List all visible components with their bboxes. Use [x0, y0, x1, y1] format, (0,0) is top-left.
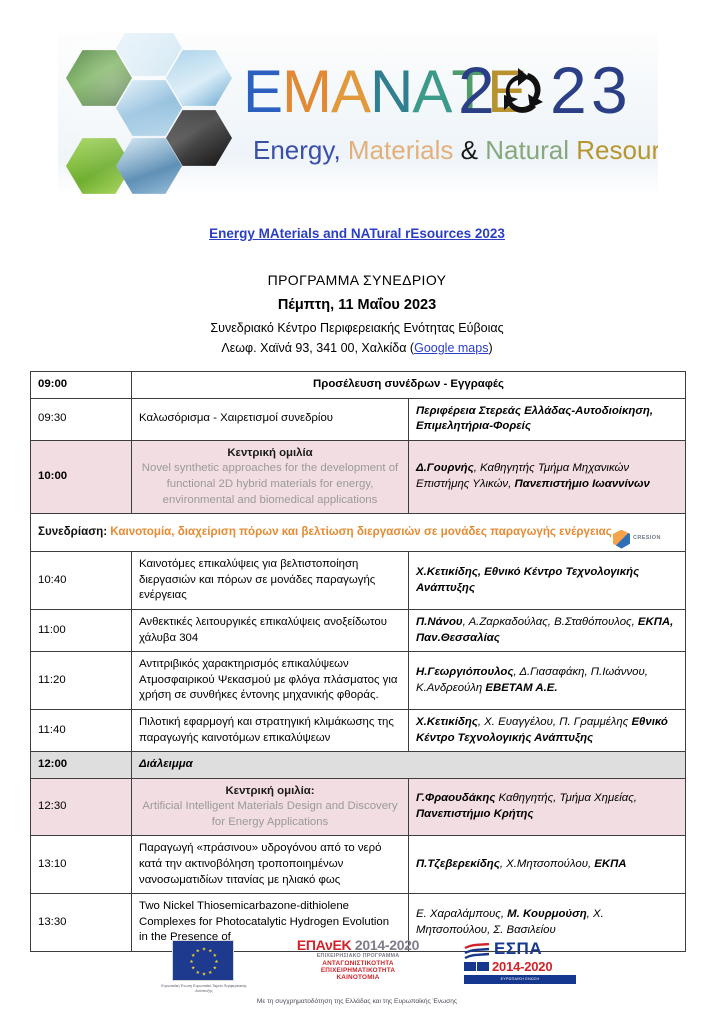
keynote-title: Novel synthetic approaches for the devel…: [139, 461, 401, 508]
wordmark-letter-5: A: [412, 57, 451, 127]
table-row: 11:00 Ανθεκτικές λειτουργικές επικαλύψει…: [31, 609, 686, 651]
row-topic: Καλωσόρισμα - Χαιρετισμοί συνεδρίου: [132, 398, 409, 440]
speaker-coauthors: Ε. Χαραλάμπους,: [416, 908, 507, 920]
row-time: 11:00: [31, 609, 132, 651]
subtitle-energy: Energy,: [253, 135, 341, 165]
speaker-primary: Γ.Φραουδάκης: [416, 792, 495, 804]
wordmark-letter-1: E: [243, 57, 282, 127]
subtitle-resources: Resources: [576, 135, 658, 165]
break-label: Διάλειμμα: [132, 752, 686, 779]
speaker-institution: ΕΒΕΤΑΜ Α.Ε.: [485, 682, 557, 694]
cresion-logo-text: CRESION: [633, 531, 661, 547]
table-row-break: 12:00 Διάλειμμα: [31, 752, 686, 779]
speaker-primary: Δ.Γουρνής: [416, 462, 474, 474]
eu-star-icon: [191, 953, 195, 957]
speaker-primary: Χ.Κετικίδης, Εθνικό Κέντρο Τεχνολογικής …: [416, 566, 639, 594]
speaker-coauthors: , Χ.Μητσοπούλου,: [500, 858, 594, 870]
venue-name: Συνεδριακό Κέντρο Περιφερειακής Ενότητας…: [0, 321, 714, 335]
speaker-institution: ΕΚΠΑ: [594, 858, 626, 870]
row-topic: Καινοτόμες επικαλύψεις για βελτιστοποίησ…: [132, 552, 409, 610]
conference-program-page: EMANATE 2 2 3 Energy, Materials & Natura…: [0, 0, 714, 1024]
row-time: 12:00: [31, 752, 132, 779]
row-topic: Κεντρική ομιλία Novel synthetic approach…: [132, 440, 409, 513]
keynote-label: Κεντρική ομιλία:: [139, 784, 401, 800]
speaker-primary: Περιφέρεια Στερεάς Ελλάδας-Αυτοδιοίκηση,…: [416, 405, 653, 433]
epanek-title: ΕΠΑνΕΚ: [297, 937, 351, 953]
hex-gloss: [58, 33, 243, 196]
row-speaker: Π.Νάνου, Α.Ζαρκαδούλας, Β.Σταθόπουλος, Ε…: [409, 609, 686, 651]
eu-star-icon: [196, 949, 200, 953]
epanek-axis-3: ΚΑΙΝΟΤΟΜΙΑ: [287, 974, 429, 981]
speaker-affiliation: Καθηγητής, Τμήμα Χημείας,: [495, 792, 637, 804]
row-time: 09:30: [31, 398, 132, 440]
eu-star-icon: [202, 947, 206, 951]
cofunding-note: Με τη συγχρηματοδότηση της Ελλάδας και τ…: [0, 998, 714, 1005]
speaker-primary: Χ.Κετικίδης: [416, 716, 478, 728]
row-speaker: Η.Γεωργιόπουλος, Δ.Γιασαφάκη, Π.Ιωάννου,…: [409, 652, 686, 710]
session-label: Συνεδρίαση:: [38, 525, 107, 538]
epanek-title-line: ΕΠΑνΕΚ 2014-2020: [287, 938, 429, 953]
year-digit-3: 2: [550, 53, 587, 127]
table-row: 09:30 Καλωσόρισμα - Χαιρετισμοί συνεδρίο…: [31, 398, 686, 440]
espa-bar-text: ΕΥΡΩΠΑΪΚΗ ΕΝΩΣΗ: [464, 975, 576, 984]
espa-mini-blocks: [464, 962, 490, 972]
row-time: 09:00: [31, 372, 132, 399]
wordmark-letter-4: N: [370, 57, 412, 127]
espa-name: ΕΣΠΑ: [494, 939, 542, 959]
keynote-label: Κεντρική ομιλία: [139, 446, 401, 462]
row-speaker: Χ.Κετικίδης, Χ. Ευαγγέλου, Π. Γραμμέλης …: [409, 709, 686, 751]
row-topic: Κεντρική ομιλία: Artificial Intelligent …: [132, 778, 409, 836]
cresion-mark-icon: [613, 530, 630, 549]
epanek-logo: ΕΠΑνΕΚ 2014-2020 ΕΠΙΧΕΙΡΗΣΙΑΚΟ ΠΡΟΓΡΑΜΜΑ…: [287, 938, 429, 988]
row-topic: Αντιτριβικός χαρακτηρισμός επικαλύψεων Α…: [132, 652, 409, 710]
table-row: 10:40 Καινοτόμες επικαλύψεις για βελτιστ…: [31, 552, 686, 610]
row-time: 10:00: [31, 440, 132, 513]
hexagon-collage-icon: [58, 33, 243, 196]
espa-wave-icon: [464, 943, 490, 963]
speaker-institution: Πανεπιστήμιο Κρήτης: [416, 808, 533, 820]
eu-star-icon: [196, 970, 200, 974]
table-row-keynote: 12:30 Κεντρική ομιλία: Artificial Intell…: [31, 778, 686, 836]
eu-star-icon: [215, 960, 219, 964]
speaker-coauthors: , Α.Ζαρκαδούλας, Β.Σταθόπουλος,: [463, 616, 638, 628]
year-digit-4: 3: [591, 53, 628, 127]
epanek-years: 2014-2020: [355, 937, 419, 953]
epanek-subtitle: ΕΠΙΧΕΙΡΗΣΙΑΚΟ ΠΡΟΓΡΑΜΜΑ: [287, 953, 429, 960]
epanek-axis-2: ΕΠΙΧΕΙΡΗΜΑΤΙΚΟΤΗΤΑ: [287, 967, 429, 974]
eu-star-icon: [208, 949, 212, 953]
year-digit-2: 2: [458, 53, 495, 127]
wordmark-letter-2: M: [282, 57, 331, 127]
table-row: 11:40 Πιλοτική εφαρμογή και στρατηγική κ…: [31, 709, 686, 751]
row-fulltext: Προσέλευση συνέδρων - Εγγραφές: [132, 372, 686, 399]
page-title: ΠΡΟΓΡΑΜΜΑ ΣΥΝΕΔΡΙΟΥ: [0, 272, 714, 288]
program-table: 09:00 Προσέλευση συνέδρων - Εγγραφές 09:…: [30, 371, 686, 952]
funding-footer: Ευρωπαϊκή Ένωση Ευρωπαϊκό Ταμείο Περιφερ…: [0, 936, 714, 1024]
row-speaker: Περιφέρεια Στερεάς Ελλάδας-Αυτοδιοίκηση,…: [409, 398, 686, 440]
subtitle-natural: Natural: [485, 135, 569, 165]
eu-flag-caption: Ευρωπαϊκή Ένωση Ευρωπαϊκό Ταμείο Περιφερ…: [160, 984, 248, 995]
table-row: 09:00 Προσέλευση συνέδρων - Εγγραφές: [31, 372, 686, 399]
conference-fullname-link[interactable]: Energy MAterials and NATural rEsources 2…: [0, 226, 714, 241]
venue-address: Λεωφ. Χαϊνά 93, 341 00, Χαλκίδα (Google …: [0, 341, 714, 355]
row-topic: Ανθεκτικές λειτουργικές επικαλύψεις ανοξ…: [132, 609, 409, 651]
subtitle-materials: Materials: [348, 135, 453, 165]
wordmark-letter-3: A: [331, 57, 370, 127]
eu-star-icon: [191, 966, 195, 970]
table-row-keynote: 10:00 Κεντρική ομιλία Novel synthetic ap…: [31, 440, 686, 513]
espa-years: 2014-2020: [492, 959, 552, 974]
table-row: 13:10 Παραγωγή «πράσινου» υδρογόνου από …: [31, 836, 686, 894]
address-prefix: Λεωφ. Χαϊνά 93, 341 00, Χαλκίδα (: [221, 341, 414, 355]
google-maps-link[interactable]: Google maps: [414, 341, 488, 355]
speaker-institution: Πανεπιστήμιο Ιωαννίνων: [514, 478, 649, 490]
address-suffix: ): [488, 341, 492, 355]
banner-subtitle: Energy, Materials & Natural Resources: [253, 133, 658, 169]
session-header: Συνεδρίαση: Καινοτομία, διαχείριση πόρων…: [31, 514, 686, 552]
row-time: 12:30: [31, 778, 132, 836]
eu-star-icon: [208, 970, 212, 974]
speaker-coauthors: , Χ. Ευαγγέλου, Π. Γραμμέλης: [478, 716, 632, 728]
cresion-logo: CRESION: [613, 529, 677, 549]
eu-star-icon: [190, 960, 194, 964]
recycling-arrows-icon: [498, 65, 550, 119]
eu-star-icon: [202, 972, 206, 976]
row-speaker: Π.Τζεβερεκίδης, Χ.Μητσοπούλου, ΕΚΠΑ: [409, 836, 686, 894]
european-union-flag-icon: [172, 940, 234, 981]
espa-bar: ΕΥΡΩΠΑΪΚΗ ΕΝΩΣΗ: [464, 975, 576, 984]
speaker-primary: Η.Γεωργιόπουλος: [416, 666, 513, 678]
speaker-primary: Π.Νάνου: [416, 616, 463, 628]
speaker-primary: Π.Τζεβερεκίδης: [416, 858, 500, 870]
row-time: 10:40: [31, 552, 132, 610]
keynote-title: Artificial Intelligent Materials Design …: [139, 799, 401, 830]
row-speaker: Δ.Γουρνής, Καθηγητής Τμήμα Μηχανικών Επι…: [409, 440, 686, 513]
eu-star-icon: [213, 966, 217, 970]
speaker-primary: Μ. Κουρμούση: [507, 908, 587, 920]
espa-logo: ΕΣΠΑ 2014-2020 ΕΥΡΩΠΑΪΚΗ ΕΝΩΣΗ: [462, 939, 578, 987]
row-speaker: Γ.Φραουδάκης Καθηγητής, Τμήμα Χημείας, Π…: [409, 778, 686, 836]
row-speaker: Χ.Κετικίδης, Εθνικό Κέντρο Τεχνολογικής …: [409, 552, 686, 610]
row-time: 11:40: [31, 709, 132, 751]
row-time: 13:10: [31, 836, 132, 894]
year-2023: 2 2 3: [458, 53, 658, 131]
row-topic: Παραγωγή «πράσινου» υδρογόνου από το νερ…: [132, 836, 409, 894]
table-row: 11:20 Αντιτριβικός χαρακτηρισμός επικαλύ…: [31, 652, 686, 710]
emanate-banner: EMANATE 2 2 3 Energy, Materials & Natura…: [58, 33, 658, 196]
row-time: 11:20: [31, 652, 132, 710]
eu-star-icon: [213, 953, 217, 957]
session-title: Καινοτομία, διαχείριση πόρων και βελτίωσ…: [110, 525, 612, 538]
conference-date: Πέμπτη, 11 Μαΐου 2023: [0, 297, 714, 313]
subtitle-ampersand: &: [461, 135, 478, 165]
table-row-session: Συνεδρίαση: Καινοτομία, διαχείριση πόρων…: [31, 514, 686, 552]
row-topic: Πιλοτική εφαρμογή και στρατηγική κλιμάκω…: [132, 709, 409, 751]
epanek-axis-1: ΑΝΤΑΓΩΝΙΣΤΙΚΟΤΗΤΑ: [287, 960, 429, 967]
